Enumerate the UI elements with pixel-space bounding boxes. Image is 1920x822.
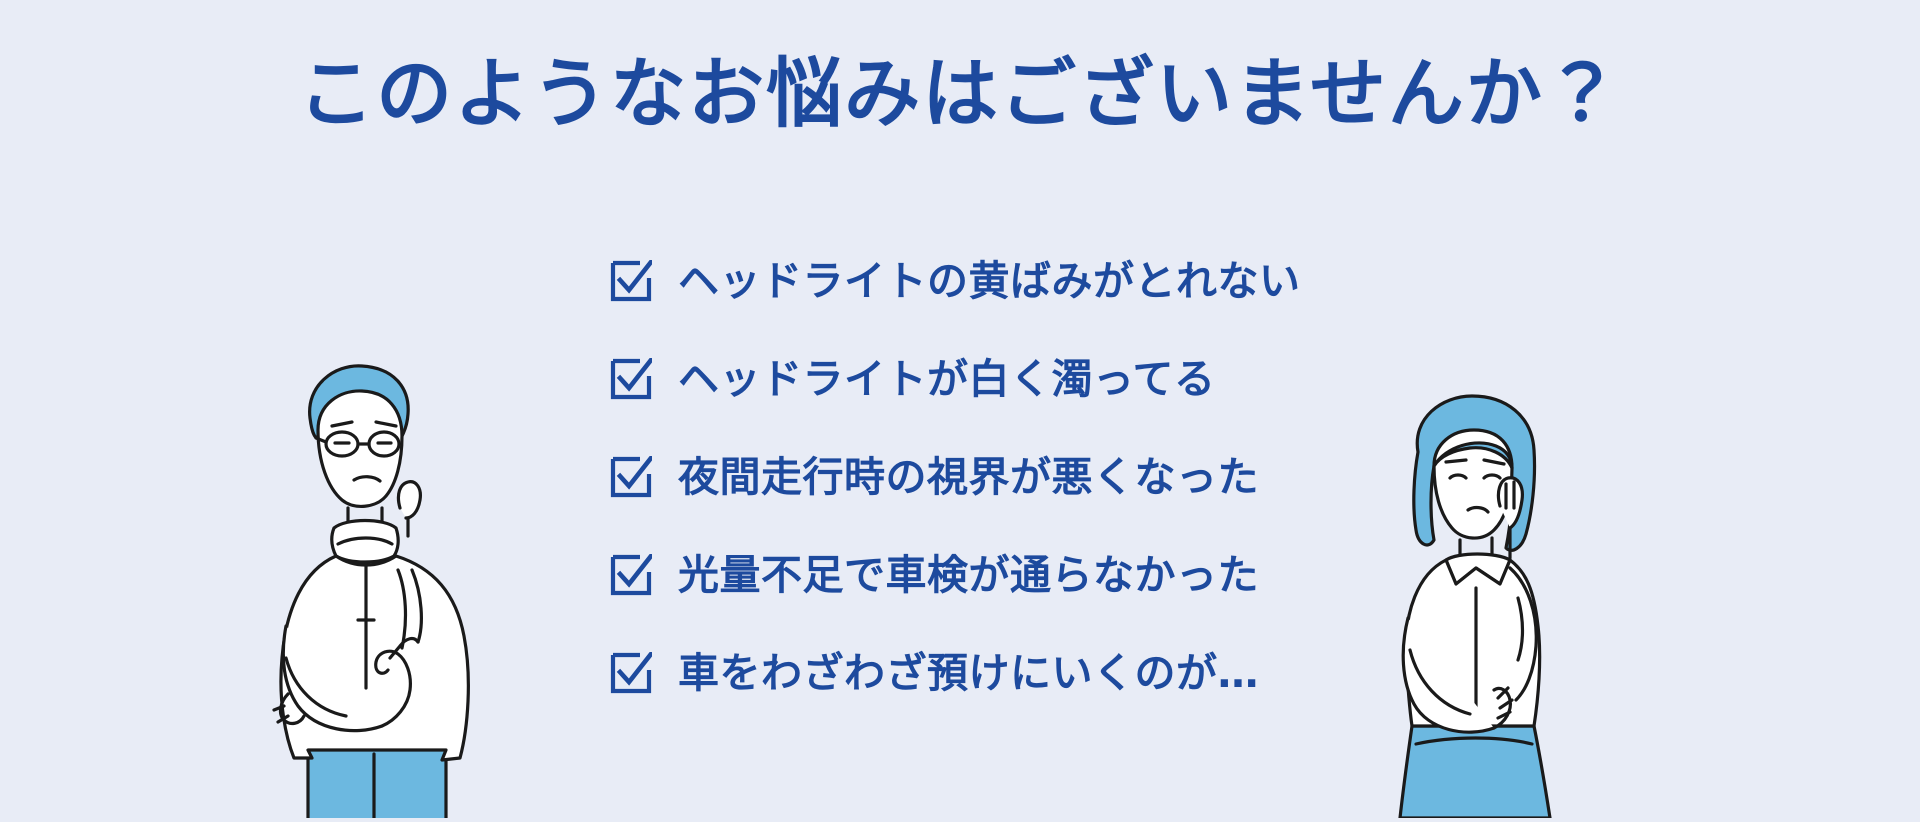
list-item-label: ヘッドライトの黄ばみがとれない [678,261,1301,302]
list-item: 夜間走行時の視界が悪くなった [610,446,1370,508]
list-item-label: 夜間走行時の視界が悪くなった [678,457,1259,498]
checkbox-checked-icon [610,554,652,596]
list-item: 車をわざわざ預けにいくのが… [610,642,1370,704]
worried-woman-illustration [1360,388,1590,822]
page-title: このようなお悩みはございませんか？ [0,56,1920,132]
list-item-label: ヘッドライトが白く濁ってる [678,359,1215,400]
pain-point-checklist: ヘッドライトの黄ばみがとれない ヘッドライトが白く濁ってる 夜間走行時の視界が悪… [610,250,1370,704]
thinking-man-illustration [250,358,510,822]
list-item: ヘッドライトの黄ばみがとれない [610,250,1370,312]
checkbox-checked-icon [610,652,652,694]
promo-banner: このようなお悩みはございませんか？ [0,0,1920,822]
checkbox-checked-icon [610,260,652,302]
list-item-label: 車をわざわざ預けにいくのが… [678,653,1259,694]
checkbox-checked-icon [610,358,652,400]
list-item: 光量不足で車検が通らなかった [610,544,1370,606]
checkbox-checked-icon [610,456,652,498]
list-item-label: 光量不足で車検が通らなかった [678,555,1259,596]
list-item: ヘッドライトが白く濁ってる [610,348,1370,410]
